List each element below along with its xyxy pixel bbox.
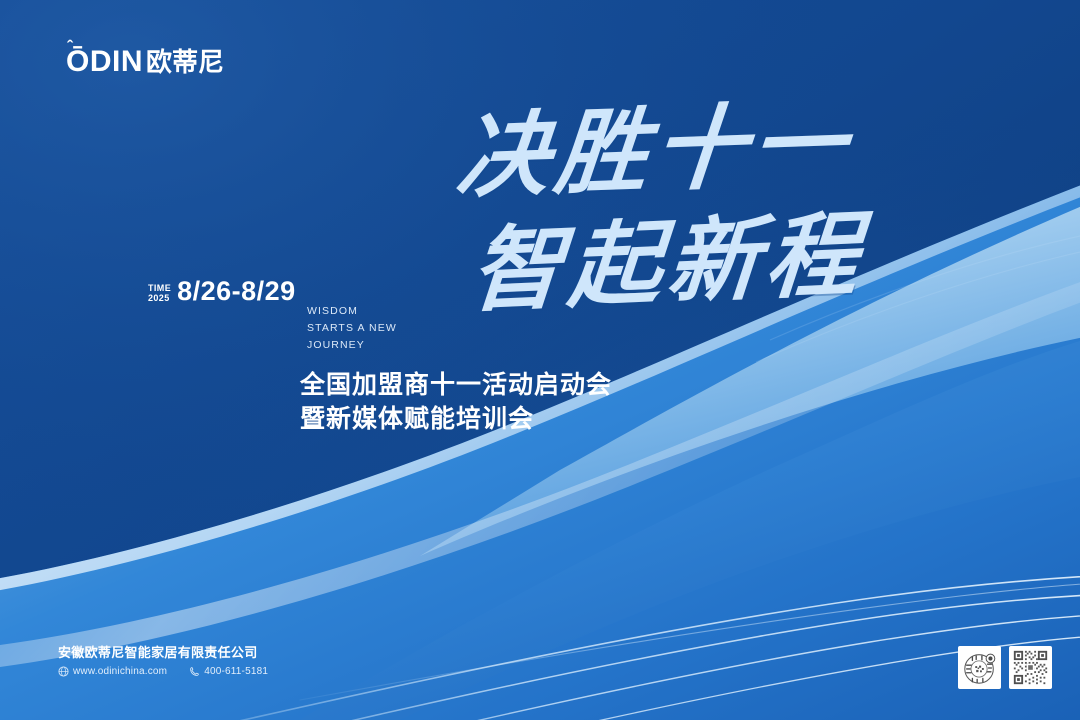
tagline-line-3: JOURNEY [307,337,397,354]
event-date-range: 8/26-8/29 [177,278,296,305]
headline-line-2: 智起新程 [467,207,904,318]
event-date-label: TIME 2025 [148,280,171,303]
company-name: 安徽欧蒂尼智能家居有限责任公司 [58,644,268,662]
circular-code-icon [961,649,999,687]
phone-text: 400-611-5181 [204,666,268,677]
contact-phone[interactable]: 400-611-5181 [189,666,268,677]
phone-icon [189,666,200,677]
logo-circumflex-icon: ˆ [67,38,73,55]
tagline-line-1: WISDOM [307,303,397,320]
headline-line-1: 决胜十一 [453,97,905,204]
wechat-official-qr-code[interactable] [1009,646,1052,689]
tagline-line-2: STARTS A NEW [307,320,397,337]
brand-logo-latin: ˆŌDIN [66,47,143,77]
english-tagline: WISDOM STARTS A NEW JOURNEY [307,303,397,354]
headline-group: 决胜十一 智起新程 [445,112,895,342]
event-subtitle-line-2: 暨新媒体赋能培训会 [300,402,612,436]
globe-icon [58,666,69,677]
brand-logo-chinese: 欧蒂尼 [146,49,224,75]
contact-row: www.odinichina.com 400-611-5181 [58,666,268,677]
brand-logo-latin-text: ŌDIN [66,45,143,78]
footer-block: 安徽欧蒂尼智能家居有限责任公司 www.odinichina.com 400-6… [58,644,268,677]
brand-logo[interactable]: ˆŌDIN 欧蒂尼 [66,47,224,77]
event-date-label-time: TIME [148,283,171,293]
qr-code-icon [1012,649,1049,686]
website-text: www.odinichina.com [73,666,167,677]
poster-canvas: ˆŌDIN 欧蒂尼 决胜十一 智起新程 TIME 2025 8/26-8/29 … [0,0,1080,720]
event-date-label-year: 2025 [148,293,171,303]
event-date-block: TIME 2025 8/26-8/29 [148,278,296,305]
wechat-mini-program-code[interactable] [958,646,1001,689]
event-subtitle: 全国加盟商十一活动启动会 暨新媒体赋能培训会 [300,368,612,436]
qr-code-group [958,646,1052,689]
contact-website[interactable]: www.odinichina.com [58,666,167,677]
event-subtitle-line-1: 全国加盟商十一活动启动会 [300,368,612,402]
